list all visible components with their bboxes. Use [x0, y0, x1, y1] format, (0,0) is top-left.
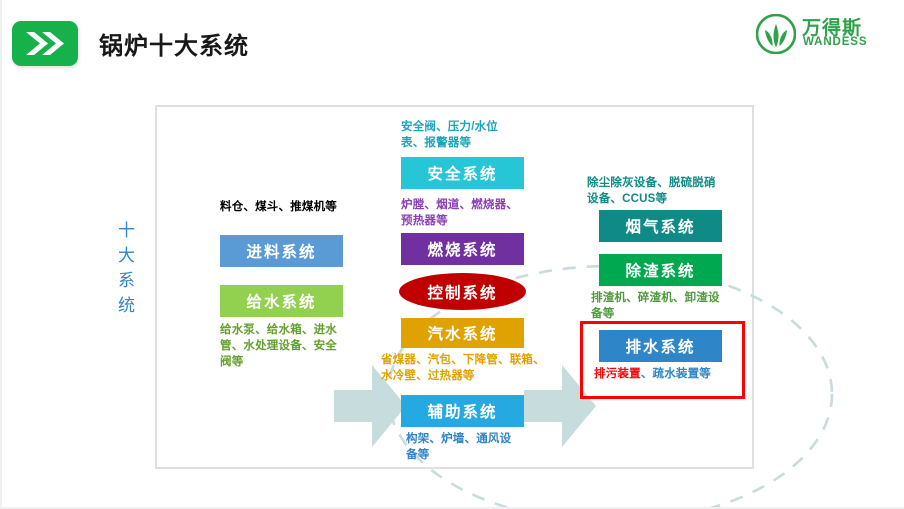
- node-feed[interactable]: 进料系统: [220, 235, 343, 267]
- caption-feed: 料仓、煤斗、推煤机等: [220, 199, 340, 215]
- page-title: 锅炉十大系统: [99, 26, 249, 61]
- slide-canvas: 锅炉十大系统 万得斯 WANDESS 十 大 系 统 料仓、煤斗、推煤: [0, 0, 904, 509]
- caption-slag: 排渣机、碎渣机、卸渣设备等: [591, 290, 723, 322]
- caption-safety: 安全阀、压力/水位表、报警器等: [401, 119, 519, 151]
- node-slag[interactable]: 除渣系统: [599, 254, 722, 286]
- diagram-card: 料仓、煤斗、推煤机等 进料系统 给水系统 给水泵、给水箱、进水管、水处理设备、安…: [155, 105, 754, 469]
- caption-auxiliary: 构架、炉墙、通风设备等: [406, 431, 518, 463]
- side-label-char-2: 系: [107, 268, 147, 293]
- caption-feedwater: 给水泵、给水箱、进水管、水处理设备、安全阀等: [220, 322, 346, 370]
- caption-steamwater: 省煤器、汽包、下降管、联箱、水冷壁、过热器等: [381, 352, 546, 384]
- brand-logo: 万得斯 WANDESS: [756, 12, 888, 56]
- node-feedwater[interactable]: 给水系统: [220, 285, 343, 317]
- node-control[interactable]: 控制系统: [399, 273, 526, 310]
- brand-name-en: WANDESS: [803, 36, 867, 48]
- drainage-highlight-frame: [580, 321, 745, 399]
- side-label-char-3: 统: [107, 293, 147, 318]
- caption-combustion: 炉膛、烟道、燃烧器、预热器等: [401, 197, 519, 229]
- node-combustion[interactable]: 燃烧系统: [401, 233, 524, 265]
- side-label-char-0: 十: [107, 218, 147, 243]
- caption-fluegas: 除尘除灰设备、脱硫脱硝设备、CCUS等: [587, 175, 725, 207]
- sprout-logo-icon: [756, 14, 796, 54]
- diagram-side-label: 十 大 系 统: [107, 218, 147, 318]
- node-safety[interactable]: 安全系统: [401, 157, 524, 189]
- node-steamwater[interactable]: 汽水系统: [401, 318, 524, 348]
- side-label-char-1: 大: [107, 243, 147, 268]
- header-badge: [12, 21, 78, 66]
- double-chevron-right-icon: [24, 30, 66, 57]
- node-fluegas[interactable]: 烟气系统: [599, 210, 722, 242]
- node-auxiliary[interactable]: 辅助系统: [401, 395, 524, 427]
